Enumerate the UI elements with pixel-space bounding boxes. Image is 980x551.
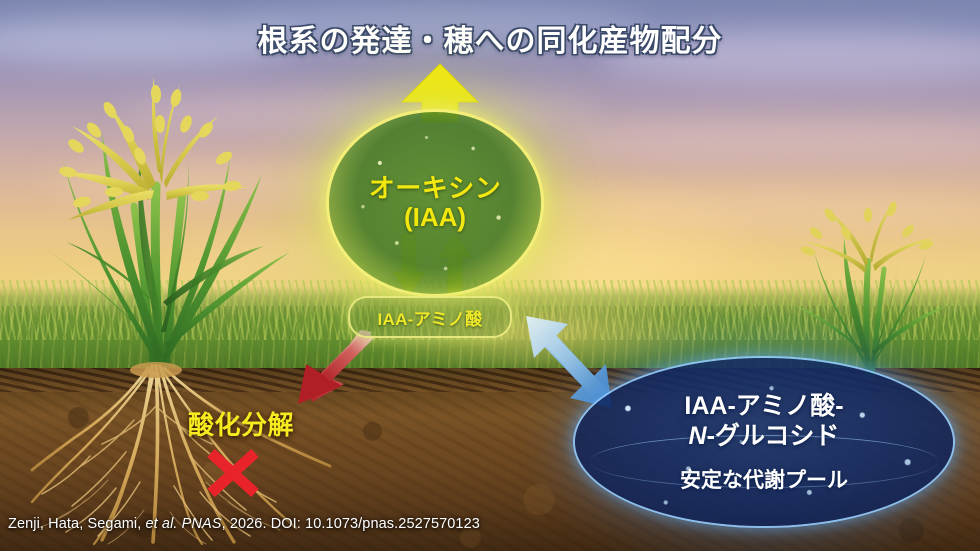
cross-out-icon [205, 448, 261, 498]
auxin-node: オーキシン (IAA) [329, 112, 541, 294]
citation-authors: Zenji, Hata, Segami, [8, 516, 146, 532]
pool-label-line2: -グルコシド [707, 422, 840, 450]
degradation-label: 酸化分解 [188, 405, 294, 442]
citation: Zenji, Hata, Segami, et al. PNAS, 2026. … [8, 516, 480, 532]
citation-doi: , 2026. DOI: 10.1073/pnas.2527570123 [222, 516, 480, 532]
pool-to-conjugate-arrow [518, 312, 610, 396]
glucoside-pool-node: IAA-アミノ酸- N-グルコシド 安定な代謝プール [575, 358, 953, 526]
rice-plant-small [780, 175, 960, 380]
pool-label-italic-n: N [689, 422, 707, 450]
pool-label-line1: IAA-アミノ酸- [684, 392, 843, 420]
figure-canvas: 根系の発達・穂への同化産物配分 [0, 0, 980, 551]
cloud [560, 120, 980, 160]
page-title: 根系の発達・穂への同化産物配分 [0, 16, 980, 60]
auxin-sublabel: (IAA) [404, 203, 466, 232]
pool-sublabel: 安定な代謝プール [680, 464, 848, 494]
pool-label: IAA-アミノ酸- N-グルコシド [684, 391, 843, 452]
conjugate-label: IAA-アミノ酸 [378, 305, 483, 330]
auxin-label: オーキシン [369, 174, 502, 203]
to-degradation-arrow [296, 330, 376, 406]
rice-plant-large [10, 6, 300, 378]
citation-journal: et al. PNAS [146, 516, 222, 532]
conjugate-node: IAA-アミノ酸 [348, 296, 512, 338]
